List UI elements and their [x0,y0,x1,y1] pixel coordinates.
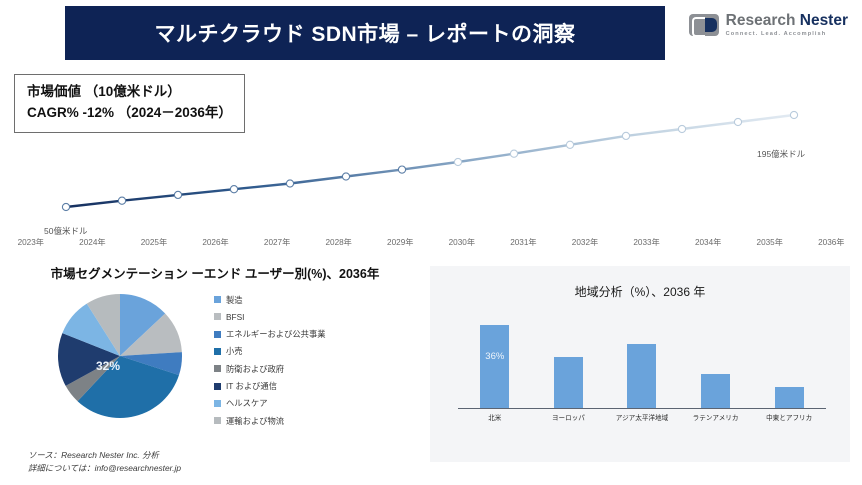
year-tick-label: 2034年 [677,236,739,248]
data-point-marker [454,158,461,165]
legend-label: ヘルスケア [226,397,268,409]
legend-label: 運輸および物流 [226,415,284,427]
data-point-marker [790,111,797,118]
market-growth-line-chart: 50億米ドル 195億米ドル [0,60,862,235]
year-tick-label: 2023年 [0,236,62,248]
source-note: ソース：Research Nester Inc. 分析 詳細については：info… [28,449,181,474]
bar-baseline-axis [458,408,826,409]
bar[interactable] [627,344,656,408]
year-tick-label: 2031年 [493,236,555,248]
pie-chart: 32% [48,289,198,424]
legend-item[interactable]: 運輸および物流 [214,412,326,429]
year-tick-label: 2030年 [431,236,493,248]
legend-item[interactable]: 防衛および政府 [214,360,326,377]
bar-value-label: 36% [480,351,509,362]
year-tick-label: 2033年 [616,236,678,248]
data-point-marker [62,203,69,210]
segmentation-body: 32% 製造BFSIエネルギーおよび公共事業小売防衛および政府IT および通信ヘ… [10,289,420,429]
pie-legend: 製造BFSIエネルギーおよび公共事業小売防衛および政府IT および通信ヘルスケア… [214,291,326,429]
segmentation-panel: 市場セグメンテーション ーエンド ユーザー別(%)、2036年 32% 製造BF… [10,266,420,441]
legend-item[interactable]: 小売 [214,343,326,360]
legend-item[interactable]: エネルギーおよび公共事業 [214,325,326,342]
bar-column [540,316,596,408]
legend-swatch-icon [214,348,221,355]
logo-name: Research Nester [726,13,848,29]
legend-swatch-icon [214,313,221,320]
header-banner: マルチクラウド SDN市場 – レポートの洞察 [65,6,665,60]
legend-label: 小売 [226,345,243,357]
year-tick-label: 2036年 [801,236,862,248]
data-point-marker [174,191,181,198]
legend-label: BFSI [226,312,244,322]
data-point-marker [678,125,685,132]
data-point-marker [230,186,237,193]
bar-column [688,316,744,408]
data-point-marker [734,118,741,125]
data-point-marker [622,132,629,139]
legend-label: エネルギーおよび公共事業 [226,328,326,340]
legend-swatch-icon [214,331,221,338]
link-chain-logo-icon [689,14,719,36]
data-point-marker [286,180,293,187]
pie-chart-svg [48,289,198,424]
year-axis: 2023年2024年2025年2026年2027年2028年2029年2030年… [0,236,862,248]
bar[interactable] [775,387,804,408]
data-point-marker [398,166,405,173]
logo-text-block: Research Nester Connect. Lead. Accomplis… [726,13,848,37]
bar-column: 36% [467,316,523,408]
logo-name-light: Research [726,12,800,29]
line-chart-svg [0,60,862,235]
region-tick-label: ラテンアメリカ [683,412,749,422]
legend-item[interactable]: IT および通信 [214,377,326,394]
page-title: マルチクラウド SDN市場 – レポートの洞察 [154,18,575,48]
year-tick-label: 2027年 [246,236,308,248]
year-tick-label: 2026年 [185,236,247,248]
bar-column [614,316,670,408]
legend-swatch-icon [214,296,221,303]
region-tick-label: 北米 [462,412,528,422]
legend-item[interactable]: ヘルスケア [214,395,326,412]
segmentation-title: 市場セグメンテーション ーエンド ユーザー別(%)、2036年 [10,266,420,283]
pie-slices [58,294,182,418]
bar[interactable]: 36% [480,325,509,408]
legend-label: 製造 [226,294,243,306]
data-point-marker [118,197,125,204]
end-value-label: 195億米ドル [757,148,805,160]
infographic-page: マルチクラウド SDN市場 – レポートの洞察 Research Nester … [0,0,862,485]
data-point-marker [566,141,573,148]
bar-column [761,316,817,408]
source-line-2: 詳細については：info@researchnester.jp [28,462,181,475]
bar[interactable] [554,357,583,408]
year-tick-label: 2028年 [308,236,370,248]
source-line-1: ソース：Research Nester Inc. 分析 [28,449,181,462]
brand-logo[interactable]: Research Nester Connect. Lead. Accomplis… [689,13,848,37]
region-axis-labels: 北米ヨーロッパアジア太平洋地域ラテンアメリカ中東とアフリカ [458,412,826,422]
data-point-marker [342,173,349,180]
legend-swatch-icon [214,400,221,407]
logo-tagline: Connect. Lead. Accomplish [726,32,848,38]
regional-bars: 36% [458,316,826,408]
legend-item[interactable]: 製造 [214,291,326,308]
year-tick-label: 2024年 [62,236,124,248]
region-tick-label: アジア太平洋地域 [609,412,675,422]
regional-analysis-title: 地域分析（%）、2036 年 [430,266,850,300]
legend-item[interactable]: BFSI [214,308,326,325]
pie-highlight-label: 32% [96,359,120,373]
region-tick-label: ヨーロッパ [535,412,601,422]
year-tick-label: 2032年 [554,236,616,248]
regional-analysis-panel: 地域分析（%）、2036 年 36% 北米ヨーロッパアジア太平洋地域ラテンアメリ… [430,266,850,462]
year-tick-label: 2035年 [739,236,801,248]
year-tick-label: 2025年 [123,236,185,248]
legend-label: IT および通信 [226,380,277,392]
region-tick-label: 中東とアフリカ [756,412,822,422]
legend-swatch-icon [214,383,221,390]
legend-swatch-icon [214,417,221,424]
logo-name-dark: Nester [800,12,848,29]
legend-label: 防衛および政府 [226,363,284,375]
year-tick-label: 2029年 [369,236,431,248]
legend-swatch-icon [214,365,221,372]
data-point-marker [510,150,517,157]
bar[interactable] [701,374,730,409]
